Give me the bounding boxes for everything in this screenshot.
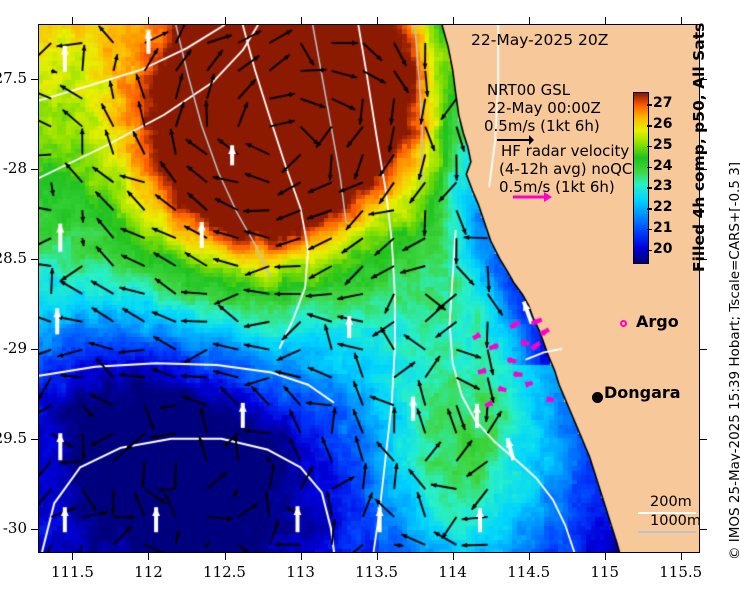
x-tick-mark-top [529, 17, 530, 24]
bathy-1000m-label: 1000m [650, 513, 701, 530]
colorbar-gradient [633, 92, 649, 264]
x-tick-mark [529, 553, 530, 560]
x-tick-mark [225, 553, 226, 560]
hf-radar-line2: (4-12h avg) noQC [499, 161, 632, 179]
x-tick-mark [148, 553, 149, 560]
x-tick-label: 114.5 [497, 563, 561, 581]
colorbar-tick-mark [647, 167, 652, 169]
y-tick-mark [31, 79, 38, 80]
y-tick-mark-right [700, 349, 707, 350]
y-tick-label: -30 [0, 519, 27, 537]
bathy-200m-label: 200m [650, 494, 692, 511]
y-tick-mark [31, 349, 38, 350]
colorbar-tick-mark [647, 187, 652, 189]
x-tick-label: 112 [116, 563, 180, 581]
colorbar-tick-label: 24 [653, 158, 672, 174]
x-tick-mark [301, 553, 302, 560]
y-tick-label: -27.5 [0, 69, 27, 87]
sst-source-line1: NRT00 GSL [487, 82, 570, 100]
x-tick-mark [72, 553, 73, 560]
date-title: 22-May-2025 20Z [471, 31, 608, 49]
x-tick-label: 113 [269, 563, 333, 581]
x-tick-label: 115 [573, 563, 637, 581]
argo-marker-icon [620, 320, 627, 327]
y-tick-label: -29.5 [0, 429, 27, 447]
colorbar-tick-label: 22 [653, 199, 672, 215]
x-tick-label: 115.5 [649, 563, 713, 581]
x-tick-label: 114 [421, 563, 485, 581]
dongara-label: Dongara [604, 384, 681, 403]
colorbar-tick-mark [647, 208, 652, 210]
y-tick-mark [31, 529, 38, 530]
y-tick-label: -28 [0, 159, 27, 177]
x-tick-mark-top [72, 17, 73, 24]
colorbar-title: Filled 4h comp, p50, All Sats [690, 23, 708, 272]
credit-text: © IMOS 25-May-2025 15:39 Hobart; Tscale=… [727, 162, 740, 560]
colorbar-tick-mark [647, 250, 652, 252]
colorbar-tick-mark [647, 125, 652, 127]
x-tick-mark-top [377, 17, 378, 24]
colorbar-tick-label: 23 [653, 178, 672, 194]
colorbar-tick-label: 27 [653, 95, 672, 111]
x-tick-mark [453, 553, 454, 560]
y-tick-label: -28.5 [0, 249, 27, 267]
magenta-reference-arrow [512, 190, 554, 204]
sst-source-line2: 22-May 00:00Z [487, 100, 601, 118]
y-tick-label: -29 [0, 339, 27, 357]
x-tick-label: 111.5 [40, 563, 104, 581]
x-tick-label: 113.5 [345, 563, 409, 581]
figure-root: 111.5112112.5113113.5114114.5115115.5-27… [0, 0, 740, 592]
colorbar-tick-label: 21 [653, 220, 672, 236]
x-tick-mark [605, 553, 606, 560]
colorbar-tick-mark [647, 229, 652, 231]
hf-radar-line1: HF radar velocity [501, 143, 629, 161]
y-tick-mark [31, 259, 38, 260]
x-tick-mark [681, 553, 682, 560]
colorbar-tick-mark [647, 146, 652, 148]
colorbar-tick-label: 26 [653, 116, 672, 132]
colorbar-tick-mark [647, 104, 652, 106]
y-tick-mark [31, 439, 38, 440]
y-tick-mark-right [700, 439, 707, 440]
x-tick-mark-top [148, 17, 149, 24]
colorbar-tick-label: 20 [653, 241, 672, 257]
x-tick-mark-top [301, 17, 302, 24]
dongara-marker-icon [592, 392, 603, 403]
bathy-1000m-line [638, 531, 696, 533]
x-tick-label: 112.5 [193, 563, 257, 581]
x-tick-mark-top [453, 17, 454, 24]
x-tick-mark-top [225, 17, 226, 24]
y-tick-mark [31, 169, 38, 170]
x-tick-mark-top [605, 17, 606, 24]
y-tick-mark-right [700, 529, 707, 530]
x-tick-mark [377, 553, 378, 560]
argo-legend-label: Argo [636, 313, 679, 332]
colorbar-tick-label: 25 [653, 137, 672, 153]
x-tick-mark-top [681, 17, 682, 24]
